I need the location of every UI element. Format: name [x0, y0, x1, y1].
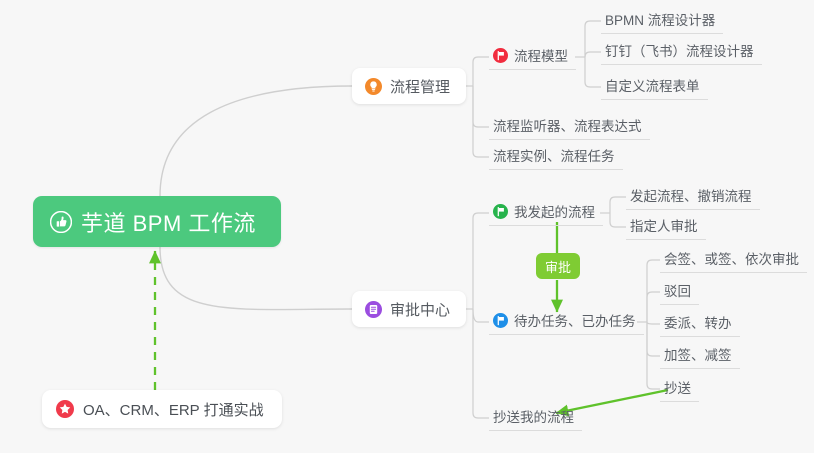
flag-icon [493, 48, 508, 63]
link-pm-to-instance [473, 86, 489, 157]
node-my-initiated-process[interactable]: 我发起的流程 [489, 201, 603, 226]
branch-node-process-management[interactable]: 流程管理 [352, 68, 466, 104]
node-cc-to-me-process[interactable]: 抄送我的流程 [489, 406, 582, 431]
node-custom-process-form[interactable]: 自定义流程表单 [601, 75, 708, 100]
node-todo-done-tasks[interactable]: 待办任务、已办任务 [489, 310, 644, 335]
link-model-to-custom-form [585, 57, 601, 87]
node-delegate-transfer[interactable]: 委派、转办 [660, 312, 740, 337]
link-ac-to-todo-done [473, 309, 489, 322]
node-label-reject: 驳回 [664, 280, 691, 300]
node-designated-approver[interactable]: 指定人审批 [626, 215, 706, 240]
node-label-my-initiated-process: 我发起的流程 [514, 201, 595, 221]
node-label-add-remove-sign: 加签、减签 [664, 344, 732, 364]
branch-node-approval-center[interactable]: 审批中心 [352, 291, 466, 327]
branch-label-process-management: 流程管理 [390, 76, 450, 97]
link-pm-to-listener [473, 86, 489, 127]
link-todo-to-reject [647, 292, 660, 322]
node-bpmn-designer[interactable]: BPMN 流程设计器 [601, 9, 723, 34]
node-label-delegate-transfer: 委派、转办 [664, 312, 732, 332]
node-label-todo-done-tasks: 待办任务、已办任务 [514, 310, 636, 330]
star-icon [56, 400, 74, 418]
node-countersign-orsign-sequential[interactable]: 会签、或签、依次审批 [660, 248, 807, 273]
link-ac-to-my-initiated [473, 213, 489, 309]
node-label-process-listener-expression: 流程监听器、流程表达式 [493, 115, 642, 135]
lightbulb-icon [365, 78, 382, 95]
link-pm-to-process-model [473, 57, 489, 86]
node-label-cc-to-me-process: 抄送我的流程 [493, 406, 574, 426]
node-start-cancel-process[interactable]: 发起流程、撤销流程 [626, 185, 760, 210]
thumbs-up-icon [50, 211, 72, 233]
relation-label-approval[interactable]: 审批 [536, 253, 580, 279]
node-label-bpmn-designer: BPMN 流程设计器 [605, 9, 715, 29]
node-label-designated-approver: 指定人审批 [630, 215, 698, 235]
node-process-model[interactable]: 流程模型 [489, 45, 576, 70]
node-label-process-model: 流程模型 [514, 45, 568, 65]
node-label-carbon-copy: 抄送 [664, 377, 691, 397]
mindmap-canvas: 芋道 BPM 工作流 流程管理 流程模型 BPMN 流程设计器 钉钉 [0, 0, 814, 453]
node-label-start-cancel-process: 发起流程、撤销流程 [630, 185, 752, 205]
node-process-listener-expression[interactable]: 流程监听器、流程表达式 [489, 115, 650, 140]
link-mine-to-start-cancel [610, 197, 626, 213]
node-process-instance-task[interactable]: 流程实例、流程任务 [489, 145, 623, 170]
node-dingtalk-feishu-designer[interactable]: 钉钉（飞书）流程设计器 [601, 40, 762, 65]
root-label: 芋道 BPM 工作流 [81, 206, 256, 238]
branch-label-approval-center: 审批中心 [390, 299, 450, 320]
link-mine-to-designated [610, 213, 626, 227]
node-add-remove-sign[interactable]: 加签、减签 [660, 344, 740, 369]
link-root-to-approval-center [160, 247, 352, 310]
link-todo-to-cc [647, 322, 660, 389]
link-root-to-process-management [160, 86, 352, 196]
link-model-to-bpmn [585, 21, 601, 57]
node-label-countersign-orsign-sequential: 会签、或签、依次审批 [664, 248, 799, 268]
link-ac-to-cc-to-me [473, 309, 489, 418]
link-model-to-dingtalk [585, 52, 601, 57]
node-label-custom-process-form: 自定义流程表单 [605, 75, 700, 95]
relation-label-approval-text: 审批 [545, 257, 571, 276]
floating-node-oa-crm-erp[interactable]: OA、CRM、ERP 打通实战 [42, 390, 282, 428]
node-carbon-copy[interactable]: 抄送 [660, 377, 699, 402]
link-todo-to-countersign [647, 260, 660, 322]
floating-node-label-oa-crm-erp: OA、CRM、ERP 打通实战 [83, 399, 264, 420]
link-todo-to-delegate [647, 322, 660, 324]
node-label-dingtalk-feishu-designer: 钉钉（飞书）流程设计器 [605, 40, 754, 60]
node-label-process-instance-task: 流程实例、流程任务 [493, 145, 615, 165]
link-todo-to-addsign [647, 322, 660, 356]
node-reject[interactable]: 驳回 [660, 280, 699, 305]
document-circle-icon [365, 301, 382, 318]
root-node[interactable]: 芋道 BPM 工作流 [33, 196, 281, 247]
flag-icon [493, 313, 508, 328]
flag-icon [493, 204, 508, 219]
